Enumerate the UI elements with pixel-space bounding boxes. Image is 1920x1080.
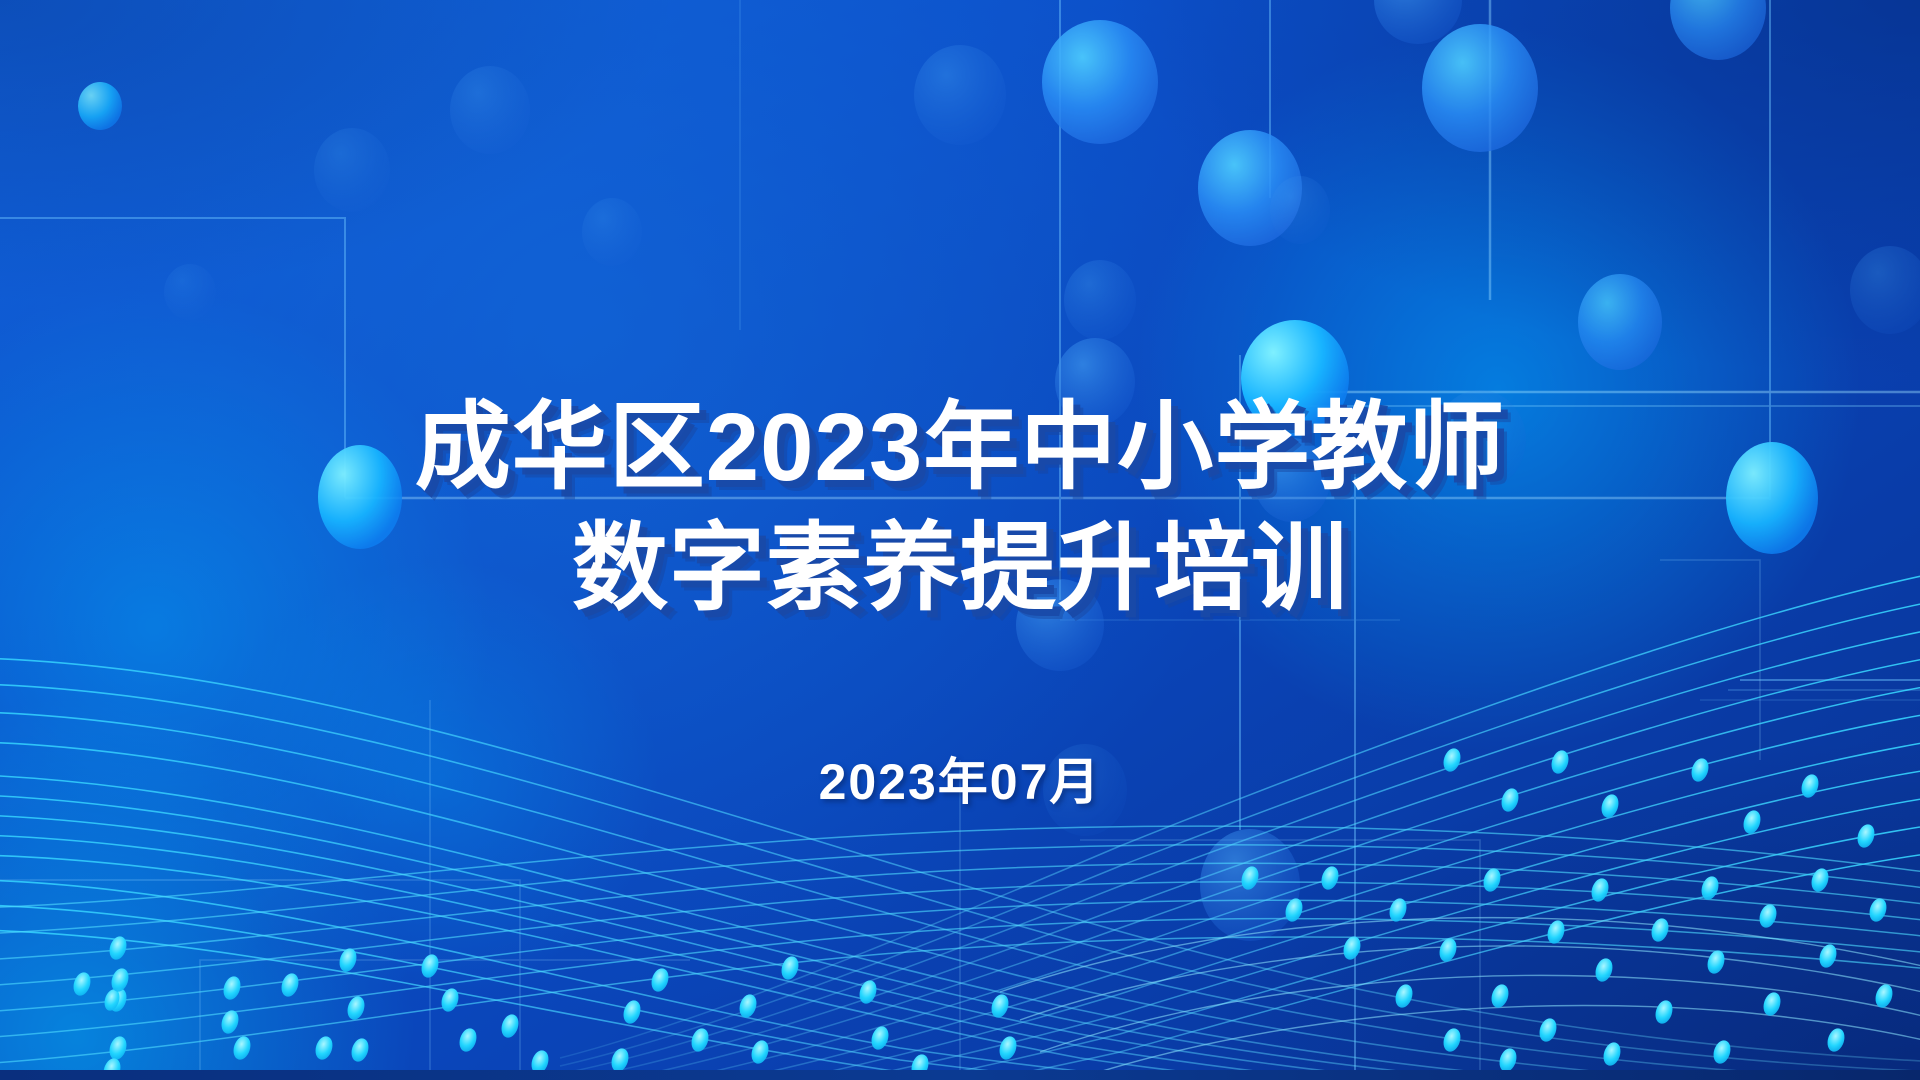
glow-dot-group	[71, 746, 1896, 1080]
wave-line-group-left	[0, 658, 1920, 1080]
wave-line-group-right-arc	[1000, 918, 1920, 1078]
bottom-accent-bar	[0, 1070, 1920, 1080]
wave-line-group-left-lower	[0, 826, 1920, 1064]
title-slide: 成华区2023年中小学教师 数字素养提升培训 2023年07月	[0, 0, 1920, 1080]
wave-decoration-layer	[0, 0, 1920, 1080]
